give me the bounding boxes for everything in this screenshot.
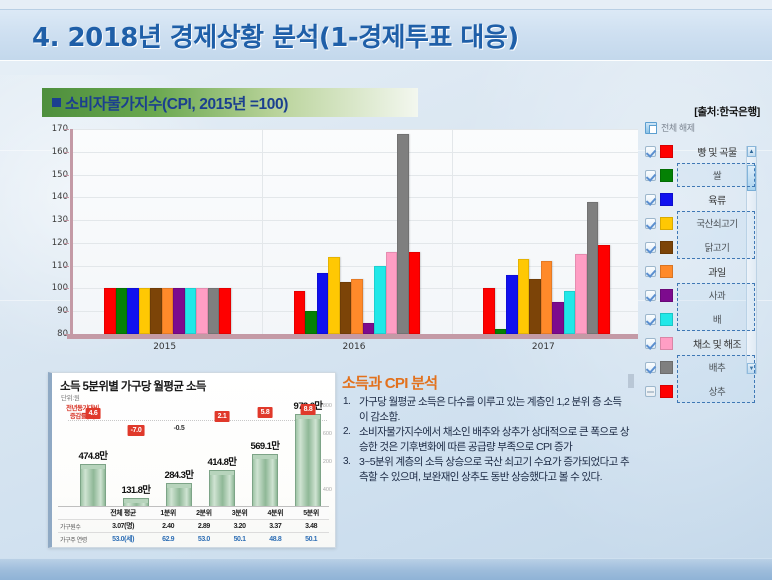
analysis-item: 소비자물가지수에서 채소인 배추와 상추가 상대적으로 큰 폭으로 상승한 것은…: [342, 425, 630, 454]
color-swatch: [660, 169, 673, 182]
table-header-cell: [58, 507, 96, 520]
checkbox-icon[interactable]: [645, 218, 656, 229]
gridline: [73, 152, 638, 153]
checkbox-icon[interactable]: [645, 314, 656, 325]
bar: [173, 288, 185, 334]
footer-band: [0, 558, 772, 580]
color-swatch: [660, 313, 673, 326]
gridline: [73, 129, 638, 130]
checkbox-icon[interactable]: [645, 242, 656, 253]
legend-panel[interactable]: 전체 해제 빵 및 곡물쌀육류국산쇠고기닭고기과일사과배채소 및 해조배추상추 …: [645, 120, 763, 410]
category-separator: [262, 129, 263, 334]
checkbox-icon[interactable]: [645, 338, 656, 349]
y-tick: [64, 175, 69, 176]
bar: [328, 257, 340, 334]
analysis-scroll-handle[interactable]: [628, 374, 634, 388]
analysis-title: 소득과 CPI 분석: [342, 372, 630, 393]
bar: [363, 323, 375, 334]
bar: [127, 288, 139, 334]
income-chart: 소득 5분위별 가구당 월평균 소득 단위:원 전년동기대비 증감률(%) 47…: [48, 372, 336, 548]
income-bar-value: 474.8만: [79, 448, 108, 462]
bar: [294, 291, 306, 334]
bar: [598, 245, 610, 334]
bar: [409, 252, 421, 334]
source-note: [출처:한국은행]: [694, 104, 760, 119]
y-tick: [64, 243, 69, 244]
uncheck-all-icon: [645, 122, 657, 134]
income-bar-value: 284.3만: [165, 467, 194, 481]
legend-item-10[interactable]: 상추: [645, 379, 763, 403]
bar: [185, 288, 197, 334]
bar: [150, 288, 162, 334]
cpi-plot-area: [70, 129, 638, 334]
gridline: [73, 220, 638, 221]
x-tick-label: 2017: [532, 342, 555, 352]
bar: [305, 311, 317, 334]
table-row: 가구원수3.07(명)2.402.893.203.373.48: [58, 520, 329, 533]
income-growth-label: 2.1: [215, 411, 230, 422]
checkbox-icon[interactable]: [645, 362, 656, 373]
bullet-square-icon: [52, 98, 61, 107]
income-right-tick: 400: [323, 487, 332, 493]
cpi-chart: 소비자물가지수(CPI, 2015년 =100) 809010011012013…: [20, 88, 640, 363]
scrollbar-thumb[interactable]: [747, 165, 756, 191]
table-cell: 2.89: [186, 520, 222, 533]
legend-item-label: 상추: [679, 384, 763, 398]
color-swatch: [660, 265, 673, 278]
bar: [116, 288, 128, 334]
table-cell: 50.1: [293, 533, 329, 546]
clear-all-label: 전체 해제: [661, 121, 695, 134]
checkbox-icon[interactable]: [645, 290, 656, 301]
bar: [162, 288, 174, 334]
bar: [196, 288, 208, 334]
color-swatch: [660, 241, 673, 254]
bar: [208, 288, 220, 334]
income-growth-label: 4.6: [86, 408, 101, 419]
bar: [104, 288, 116, 334]
income-right-tick: 600: [323, 431, 332, 437]
checkbox-icon[interactable]: [645, 170, 656, 181]
legend-scrollbar[interactable]: ▲ ▼: [746, 146, 757, 374]
color-swatch: [660, 337, 673, 350]
checkbox-icon[interactable]: [645, 194, 656, 205]
color-swatch: [660, 145, 673, 158]
gridline: [73, 197, 638, 198]
bar: [541, 261, 553, 334]
income-growth-label: 8.8: [301, 404, 316, 415]
table-header-cell: 2분위: [186, 507, 222, 520]
bar: [317, 273, 329, 335]
checkbox-icon[interactable]: [645, 266, 656, 277]
table-cell: 62.9: [150, 533, 186, 546]
bar: [386, 252, 398, 334]
y-tick: [64, 197, 69, 198]
bar: [587, 202, 599, 334]
income-bar: [295, 417, 321, 514]
bar: [397, 134, 409, 334]
table-cell: 48.8: [257, 533, 293, 546]
table-header-cell: 3분위: [222, 507, 258, 520]
table-cell: 3.37: [257, 520, 293, 533]
top-bar: [0, 0, 772, 9]
gridline: [73, 243, 638, 244]
bar: [351, 279, 363, 334]
y-tick: [64, 334, 69, 335]
page-title: 4. 2018년 경제상황 분석(1-경제투표 대응): [32, 17, 519, 54]
table-header-cell: 4분위: [257, 507, 293, 520]
color-swatch: [660, 289, 673, 302]
clear-all-button[interactable]: 전체 해제: [645, 120, 763, 135]
analysis-item: 가구당 월평균 소득은 다수를 이루고 있는 계층인 1,2 분위 층 소득이 …: [342, 395, 630, 424]
income-right-tick: 200: [323, 459, 332, 465]
table-header-cell: 5분위: [293, 507, 329, 520]
bar: [575, 254, 587, 334]
bar: [506, 275, 518, 334]
income-bar-value: 569.1만: [251, 438, 280, 452]
category-separator: [452, 129, 453, 334]
bar: [518, 259, 530, 334]
cpi-chart-title-text: 소비자물가지수(CPI, 2015년 =100): [65, 92, 288, 114]
y-tick: [64, 129, 69, 130]
y-tick: [64, 311, 69, 312]
cpi-chart-title: 소비자물가지수(CPI, 2015년 =100): [42, 88, 418, 117]
table-cell: 53.0: [186, 533, 222, 546]
table-row-label: 가구주 연령: [58, 533, 96, 546]
income-chart-unit: 단위:원: [61, 392, 80, 402]
color-swatch: [660, 361, 673, 374]
bar: [340, 282, 352, 334]
bar: [564, 291, 576, 334]
income-chart-title: 소득 5분위별 가구당 월평균 소득: [60, 378, 206, 394]
table-header-cell: 전체 평균: [96, 507, 150, 520]
color-swatch: [660, 385, 673, 398]
table-row-label: 가구원수: [58, 520, 96, 533]
analysis-list: 가구당 월평균 소득은 다수를 이루고 있는 계층인 1,2 분위 층 소득이 …: [342, 395, 630, 484]
income-data-table: 전체 평균1분위2분위3분위4분위5분위가구원수3.07(명)2.402.893…: [58, 506, 329, 545]
scroll-up-icon[interactable]: ▲: [747, 146, 756, 157]
color-swatch: [660, 217, 673, 230]
zero-reference-line: [68, 420, 327, 421]
table-header-cell: 1분위: [150, 507, 186, 520]
income-growth-label: -7.0: [128, 425, 145, 436]
table-cell: 53.0(세): [96, 533, 150, 546]
y-tick: [64, 266, 69, 267]
y-tick: [64, 220, 69, 221]
gridline: [73, 175, 638, 176]
analysis-block: 소득과 CPI 분석 가구당 월평균 소득은 다수를 이루고 있는 계층인 1,…: [342, 372, 630, 485]
analysis-item: 3~5분위 계층의 소득 상승으로 국산 쇠고기 수요가 증가되었다고 추측할 …: [342, 455, 630, 484]
color-swatch: [660, 193, 673, 206]
y-tick: [64, 152, 69, 153]
checkbox-icon[interactable]: [645, 386, 656, 397]
income-bar-value: 414.8만: [208, 454, 237, 468]
bar: [552, 302, 564, 334]
table-cell: 3.48: [293, 520, 329, 533]
bar: [139, 288, 151, 334]
income-bar-value: 131.8만: [122, 482, 151, 496]
bar: [529, 279, 541, 334]
gridline: [73, 266, 638, 267]
table-cell: 2.40: [150, 520, 186, 533]
table-cell: 3.07(명): [96, 520, 150, 533]
x-tick-label: 2016: [343, 342, 366, 352]
cpi-y-axis-labels: 8090100110120130140150160170: [38, 122, 68, 337]
scroll-down-icon[interactable]: ▼: [747, 363, 756, 374]
y-tick: [64, 288, 69, 289]
bar: [374, 266, 386, 334]
income-right-tick: 800: [323, 403, 332, 409]
table-header-row: 전체 평균1분위2분위3분위4분위5분위: [58, 507, 329, 520]
income-growth-label: 5.8: [258, 407, 273, 418]
slide-header: 4. 2018년 경제상황 분석(1-경제투표 대응): [0, 9, 772, 61]
table-row: 가구주 연령53.0(세)62.953.050.148.850.1: [58, 533, 329, 546]
income-growth-label: -0.5: [174, 425, 185, 432]
checkbox-icon[interactable]: [645, 146, 656, 157]
table-cell: 3.20: [222, 520, 258, 533]
bar: [483, 288, 495, 334]
x-tick-label: 2015: [153, 342, 176, 352]
cpi-x-axis-line: [67, 334, 638, 339]
bar: [219, 288, 231, 334]
table-cell: 50.1: [222, 533, 258, 546]
